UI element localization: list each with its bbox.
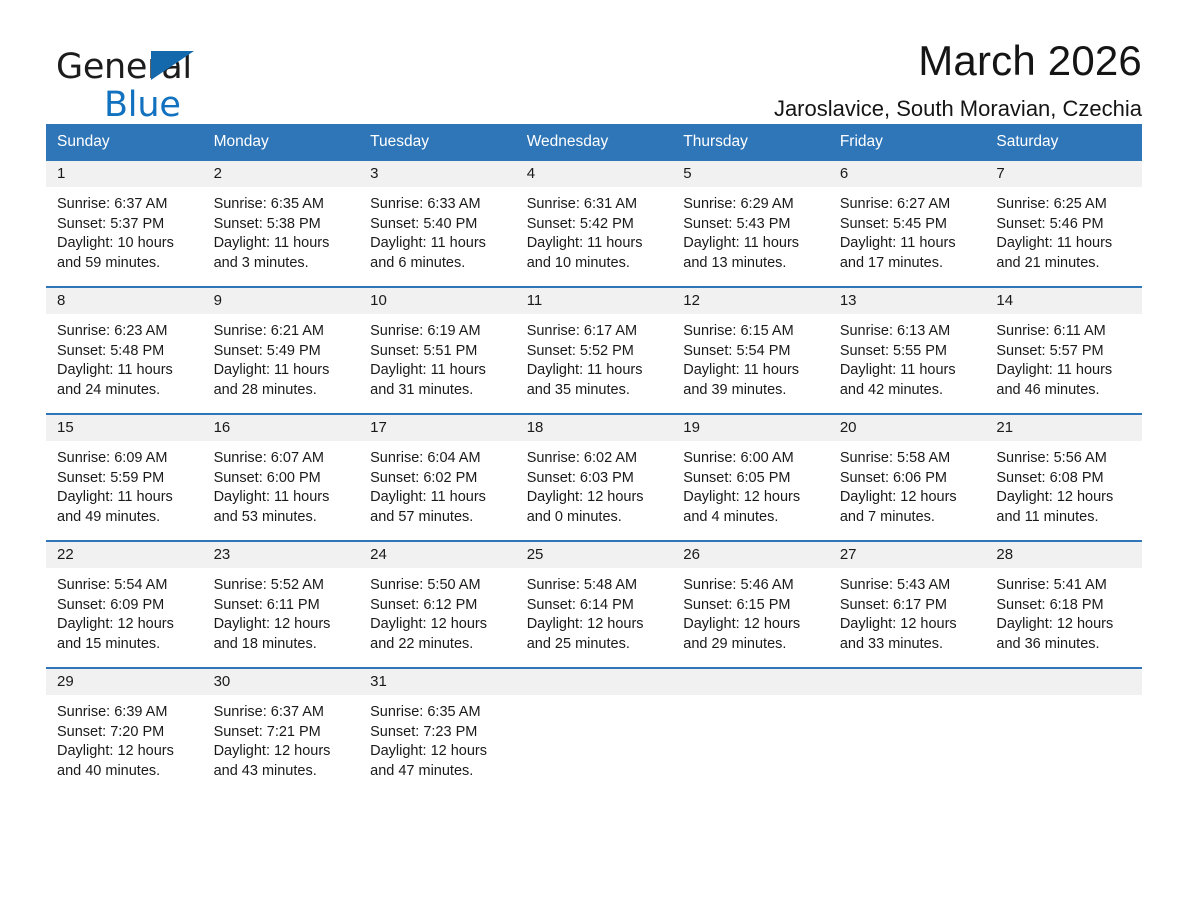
sunrise-text: Sunrise: 5:58 AM: [840, 449, 978, 469]
sunset-text: Sunset: 5:49 PM: [214, 342, 352, 362]
sunset-text: Sunset: 6:00 PM: [214, 469, 352, 489]
daylight-text: Daylight: 12 hours and 36 minutes.: [996, 615, 1134, 654]
sunrise-text: Sunrise: 6:00 AM: [683, 449, 821, 469]
sunset-text: Sunset: 5:57 PM: [996, 342, 1134, 362]
sunrise-text: Sunrise: 5:56 AM: [996, 449, 1134, 469]
day-details: Sunrise: 5:54 AMSunset: 6:09 PMDaylight:…: [46, 568, 203, 654]
calendar-week-row: 29Sunrise: 6:39 AMSunset: 7:20 PMDayligh…: [46, 668, 1142, 794]
day-details: Sunrise: 5:52 AMSunset: 6:11 PMDaylight:…: [203, 568, 360, 654]
day-number: 16: [203, 415, 360, 441]
sunrise-text: Sunrise: 6:19 AM: [370, 322, 508, 342]
day-cell[interactable]: 16Sunrise: 6:07 AMSunset: 6:00 PMDayligh…: [203, 414, 360, 541]
day-number: 8: [46, 288, 203, 314]
daylight-text: Daylight: 11 hours and 39 minutes.: [683, 361, 821, 400]
daylight-text: Daylight: 11 hours and 3 minutes.: [214, 234, 352, 273]
sunrise-text: Sunrise: 6:37 AM: [57, 195, 195, 215]
sunrise-text: Sunrise: 6:33 AM: [370, 195, 508, 215]
day-number: 2: [203, 161, 360, 187]
daylight-text: Daylight: 11 hours and 17 minutes.: [840, 234, 978, 273]
day-number: 9: [203, 288, 360, 314]
sunset-text: Sunset: 5:46 PM: [996, 215, 1134, 235]
sunset-text: Sunset: 6:17 PM: [840, 596, 978, 616]
day-number: [829, 669, 986, 695]
sunrise-text: Sunrise: 6:11 AM: [996, 322, 1134, 342]
daylight-text: Daylight: 11 hours and 21 minutes.: [996, 234, 1134, 273]
sunrise-text: Sunrise: 5:48 AM: [527, 576, 665, 596]
daylight-text: Daylight: 12 hours and 25 minutes.: [527, 615, 665, 654]
day-cell[interactable]: 5Sunrise: 6:29 AMSunset: 5:43 PMDaylight…: [672, 161, 829, 287]
day-number: 13: [829, 288, 986, 314]
sunrise-text: Sunrise: 5:46 AM: [683, 576, 821, 596]
sunrise-text: Sunrise: 5:41 AM: [996, 576, 1134, 596]
day-cell-empty: [516, 668, 673, 794]
day-details: Sunrise: 6:37 AMSunset: 7:21 PMDaylight:…: [203, 695, 360, 781]
daylight-text: Daylight: 11 hours and 24 minutes.: [57, 361, 195, 400]
day-details: Sunrise: 5:41 AMSunset: 6:18 PMDaylight:…: [985, 568, 1142, 654]
weekday-header-monday: Monday: [203, 124, 360, 161]
day-details: Sunrise: 6:09 AMSunset: 5:59 PMDaylight:…: [46, 441, 203, 527]
day-number: 23: [203, 542, 360, 568]
day-number: 22: [46, 542, 203, 568]
daylight-text: Daylight: 11 hours and 53 minutes.: [214, 488, 352, 527]
day-cell[interactable]: 21Sunrise: 5:56 AMSunset: 6:08 PMDayligh…: [985, 414, 1142, 541]
day-cell[interactable]: 3Sunrise: 6:33 AMSunset: 5:40 PMDaylight…: [359, 161, 516, 287]
day-cell[interactable]: 26Sunrise: 5:46 AMSunset: 6:15 PMDayligh…: [672, 541, 829, 668]
day-cell[interactable]: 18Sunrise: 6:02 AMSunset: 6:03 PMDayligh…: [516, 414, 673, 541]
day-cell[interactable]: 31Sunrise: 6:35 AMSunset: 7:23 PMDayligh…: [359, 668, 516, 794]
daylight-text: Daylight: 11 hours and 49 minutes.: [57, 488, 195, 527]
day-cell[interactable]: 25Sunrise: 5:48 AMSunset: 6:14 PMDayligh…: [516, 541, 673, 668]
sunrise-text: Sunrise: 6:04 AM: [370, 449, 508, 469]
weekday-header-tuesday: Tuesday: [359, 124, 516, 161]
day-details: Sunrise: 5:50 AMSunset: 6:12 PMDaylight:…: [359, 568, 516, 654]
day-details: Sunrise: 6:00 AMSunset: 6:05 PMDaylight:…: [672, 441, 829, 527]
day-cell[interactable]: 9Sunrise: 6:21 AMSunset: 5:49 PMDaylight…: [203, 287, 360, 414]
daylight-text: Daylight: 11 hours and 57 minutes.: [370, 488, 508, 527]
day-cell[interactable]: 2Sunrise: 6:35 AMSunset: 5:38 PMDaylight…: [203, 161, 360, 287]
day-cell[interactable]: 6Sunrise: 6:27 AMSunset: 5:45 PMDaylight…: [829, 161, 986, 287]
sunset-text: Sunset: 7:23 PM: [370, 723, 508, 743]
day-cell[interactable]: 15Sunrise: 6:09 AMSunset: 5:59 PMDayligh…: [46, 414, 203, 541]
sunset-text: Sunset: 5:45 PM: [840, 215, 978, 235]
day-details: Sunrise: 6:25 AMSunset: 5:46 PMDaylight:…: [985, 187, 1142, 273]
page-title: March 2026: [46, 40, 1142, 82]
sunset-text: Sunset: 6:14 PM: [527, 596, 665, 616]
sunrise-text: Sunrise: 6:15 AM: [683, 322, 821, 342]
sunrise-text: Sunrise: 6:37 AM: [214, 703, 352, 723]
calendar-page: General Blue March 2026 Jaroslavice, Sou…: [0, 0, 1188, 918]
logo-triangle-icon: [151, 51, 194, 80]
day-number: 20: [829, 415, 986, 441]
sunrise-text: Sunrise: 5:43 AM: [840, 576, 978, 596]
day-cell[interactable]: 12Sunrise: 6:15 AMSunset: 5:54 PMDayligh…: [672, 287, 829, 414]
day-cell-empty: [829, 668, 986, 794]
sunset-text: Sunset: 5:42 PM: [527, 215, 665, 235]
day-details: Sunrise: 5:48 AMSunset: 6:14 PMDaylight:…: [516, 568, 673, 654]
sunrise-text: Sunrise: 6:09 AM: [57, 449, 195, 469]
day-details: Sunrise: 6:02 AMSunset: 6:03 PMDaylight:…: [516, 441, 673, 527]
day-details: Sunrise: 6:19 AMSunset: 5:51 PMDaylight:…: [359, 314, 516, 400]
day-number: 3: [359, 161, 516, 187]
sunrise-text: Sunrise: 5:50 AM: [370, 576, 508, 596]
sunrise-text: Sunrise: 6:31 AM: [527, 195, 665, 215]
daylight-text: Daylight: 11 hours and 46 minutes.: [996, 361, 1134, 400]
sunrise-text: Sunrise: 6:07 AM: [214, 449, 352, 469]
sunrise-text: Sunrise: 6:17 AM: [527, 322, 665, 342]
day-details: Sunrise: 6:35 AMSunset: 5:38 PMDaylight:…: [203, 187, 360, 273]
day-details: [829, 695, 986, 703]
sunset-text: Sunset: 6:15 PM: [683, 596, 821, 616]
sunset-text: Sunset: 5:43 PM: [683, 215, 821, 235]
weekday-header-thursday: Thursday: [672, 124, 829, 161]
sunset-text: Sunset: 6:18 PM: [996, 596, 1134, 616]
sunrise-text: Sunrise: 6:39 AM: [57, 703, 195, 723]
daylight-text: Daylight: 12 hours and 4 minutes.: [683, 488, 821, 527]
daylight-text: Daylight: 12 hours and 18 minutes.: [214, 615, 352, 654]
sunset-text: Sunset: 6:03 PM: [527, 469, 665, 489]
sunrise-text: Sunrise: 5:54 AM: [57, 576, 195, 596]
calendar-week-row: 15Sunrise: 6:09 AMSunset: 5:59 PMDayligh…: [46, 414, 1142, 541]
day-cell-empty: [672, 668, 829, 794]
day-number: 1: [46, 161, 203, 187]
day-cell-empty: [985, 668, 1142, 794]
daylight-text: Daylight: 12 hours and 11 minutes.: [996, 488, 1134, 527]
calendar-week-row: 22Sunrise: 5:54 AMSunset: 6:09 PMDayligh…: [46, 541, 1142, 668]
calendar-week-row: 8Sunrise: 6:23 AMSunset: 5:48 PMDaylight…: [46, 287, 1142, 414]
sunset-text: Sunset: 5:38 PM: [214, 215, 352, 235]
weekday-header-saturday: Saturday: [985, 124, 1142, 161]
sunrise-text: Sunrise: 5:52 AM: [214, 576, 352, 596]
sunset-text: Sunset: 5:37 PM: [57, 215, 195, 235]
sunrise-text: Sunrise: 6:02 AM: [527, 449, 665, 469]
daylight-text: Daylight: 12 hours and 22 minutes.: [370, 615, 508, 654]
sunrise-text: Sunrise: 6:13 AM: [840, 322, 978, 342]
sunset-text: Sunset: 5:54 PM: [683, 342, 821, 362]
sunrise-text: Sunrise: 6:35 AM: [214, 195, 352, 215]
daylight-text: Daylight: 12 hours and 43 minutes.: [214, 742, 352, 781]
calendar-body: 1Sunrise: 6:37 AMSunset: 5:37 PMDaylight…: [46, 161, 1142, 794]
daylight-text: Daylight: 11 hours and 31 minutes.: [370, 361, 508, 400]
daylight-text: Daylight: 12 hours and 29 minutes.: [683, 615, 821, 654]
day-number: 12: [672, 288, 829, 314]
daylight-text: Daylight: 12 hours and 7 minutes.: [840, 488, 978, 527]
day-cell[interactable]: 23Sunrise: 5:52 AMSunset: 6:11 PMDayligh…: [203, 541, 360, 668]
day-number: 5: [672, 161, 829, 187]
daylight-text: Daylight: 11 hours and 13 minutes.: [683, 234, 821, 273]
sunset-text: Sunset: 6:05 PM: [683, 469, 821, 489]
day-details: Sunrise: 6:39 AMSunset: 7:20 PMDaylight:…: [46, 695, 203, 781]
day-number: 14: [985, 288, 1142, 314]
day-number: [985, 669, 1142, 695]
daylight-text: Daylight: 12 hours and 33 minutes.: [840, 615, 978, 654]
day-cell[interactable]: 4Sunrise: 6:31 AMSunset: 5:42 PMDaylight…: [516, 161, 673, 287]
day-details: Sunrise: 6:31 AMSunset: 5:42 PMDaylight:…: [516, 187, 673, 273]
sunset-text: Sunset: 5:55 PM: [840, 342, 978, 362]
sunset-text: Sunset: 6:09 PM: [57, 596, 195, 616]
sunset-text: Sunset: 5:40 PM: [370, 215, 508, 235]
sunset-text: Sunset: 6:11 PM: [214, 596, 352, 616]
day-cell[interactable]: 22Sunrise: 5:54 AMSunset: 6:09 PMDayligh…: [46, 541, 203, 668]
day-cell[interactable]: 30Sunrise: 6:37 AMSunset: 7:21 PMDayligh…: [203, 668, 360, 794]
day-number: [516, 669, 673, 695]
daylight-text: Daylight: 12 hours and 0 minutes.: [527, 488, 665, 527]
day-cell[interactable]: 8Sunrise: 6:23 AMSunset: 5:48 PMDaylight…: [46, 287, 203, 414]
weekday-header-sunday: Sunday: [46, 124, 203, 161]
sunset-text: Sunset: 5:51 PM: [370, 342, 508, 362]
day-number: 15: [46, 415, 203, 441]
day-cell[interactable]: 13Sunrise: 6:13 AMSunset: 5:55 PMDayligh…: [829, 287, 986, 414]
day-cell[interactable]: 1Sunrise: 6:37 AMSunset: 5:37 PMDaylight…: [46, 161, 203, 287]
day-cell[interactable]: 17Sunrise: 6:04 AMSunset: 6:02 PMDayligh…: [359, 414, 516, 541]
day-details: Sunrise: 6:04 AMSunset: 6:02 PMDaylight:…: [359, 441, 516, 527]
sunrise-sunset-calendar: Sunday Monday Tuesday Wednesday Thursday…: [46, 124, 1142, 794]
day-details: Sunrise: 6:13 AMSunset: 5:55 PMDaylight:…: [829, 314, 986, 400]
daylight-text: Daylight: 11 hours and 42 minutes.: [840, 361, 978, 400]
day-details: Sunrise: 6:35 AMSunset: 7:23 PMDaylight:…: [359, 695, 516, 781]
day-details: [672, 695, 829, 703]
sunset-text: Sunset: 6:08 PM: [996, 469, 1134, 489]
day-cell[interactable]: 27Sunrise: 5:43 AMSunset: 6:17 PMDayligh…: [829, 541, 986, 668]
daylight-text: Daylight: 11 hours and 6 minutes.: [370, 234, 508, 273]
day-number: 21: [985, 415, 1142, 441]
day-cell[interactable]: 28Sunrise: 5:41 AMSunset: 6:18 PMDayligh…: [985, 541, 1142, 668]
day-details: [516, 695, 673, 703]
day-details: Sunrise: 5:43 AMSunset: 6:17 PMDaylight:…: [829, 568, 986, 654]
day-cell[interactable]: 29Sunrise: 6:39 AMSunset: 7:20 PMDayligh…: [46, 668, 203, 794]
title-block: March 2026 Jaroslavice, South Moravian, …: [46, 0, 1142, 120]
day-details: Sunrise: 6:15 AMSunset: 5:54 PMDaylight:…: [672, 314, 829, 400]
day-details: Sunrise: 6:11 AMSunset: 5:57 PMDaylight:…: [985, 314, 1142, 400]
general-blue-logo: General Blue: [56, 50, 192, 123]
logo-blue-label: Blue: [104, 88, 192, 123]
sunset-text: Sunset: 6:02 PM: [370, 469, 508, 489]
day-number: 17: [359, 415, 516, 441]
day-number: 24: [359, 542, 516, 568]
day-number: 28: [985, 542, 1142, 568]
day-cell[interactable]: 19Sunrise: 6:00 AMSunset: 6:05 PMDayligh…: [672, 414, 829, 541]
sunset-text: Sunset: 6:06 PM: [840, 469, 978, 489]
day-number: 6: [829, 161, 986, 187]
day-number: 27: [829, 542, 986, 568]
day-number: 25: [516, 542, 673, 568]
calendar-week-row: 1Sunrise: 6:37 AMSunset: 5:37 PMDaylight…: [46, 161, 1142, 287]
sunset-text: Sunset: 6:12 PM: [370, 596, 508, 616]
day-cell[interactable]: 24Sunrise: 5:50 AMSunset: 6:12 PMDayligh…: [359, 541, 516, 668]
day-details: Sunrise: 6:21 AMSunset: 5:49 PMDaylight:…: [203, 314, 360, 400]
day-number: [672, 669, 829, 695]
sunrise-text: Sunrise: 6:35 AM: [370, 703, 508, 723]
day-number: 19: [672, 415, 829, 441]
day-details: Sunrise: 6:17 AMSunset: 5:52 PMDaylight:…: [516, 314, 673, 400]
day-number: 4: [516, 161, 673, 187]
day-number: 11: [516, 288, 673, 314]
day-details: Sunrise: 5:58 AMSunset: 6:06 PMDaylight:…: [829, 441, 986, 527]
sunrise-text: Sunrise: 6:27 AM: [840, 195, 978, 215]
logo-text-general: General: [56, 50, 192, 85]
daylight-text: Daylight: 12 hours and 15 minutes.: [57, 615, 195, 654]
daylight-text: Daylight: 11 hours and 35 minutes.: [527, 361, 665, 400]
daylight-text: Daylight: 12 hours and 40 minutes.: [57, 742, 195, 781]
day-number: 26: [672, 542, 829, 568]
daylight-text: Daylight: 12 hours and 47 minutes.: [370, 742, 508, 781]
day-number: 7: [985, 161, 1142, 187]
sunrise-text: Sunrise: 6:25 AM: [996, 195, 1134, 215]
day-details: Sunrise: 6:37 AMSunset: 5:37 PMDaylight:…: [46, 187, 203, 273]
day-cell[interactable]: 20Sunrise: 5:58 AMSunset: 6:06 PMDayligh…: [829, 414, 986, 541]
weekday-header-friday: Friday: [829, 124, 986, 161]
sunset-text: Sunset: 5:48 PM: [57, 342, 195, 362]
location-subtitle: Jaroslavice, South Moravian, Czechia: [46, 98, 1142, 120]
day-details: Sunrise: 6:07 AMSunset: 6:00 PMDaylight:…: [203, 441, 360, 527]
weekday-header-wednesday: Wednesday: [516, 124, 673, 161]
page-header: General Blue March 2026 Jaroslavice, Sou…: [0, 0, 1188, 110]
daylight-text: Daylight: 11 hours and 10 minutes.: [527, 234, 665, 273]
day-details: Sunrise: 6:27 AMSunset: 5:45 PMDaylight:…: [829, 187, 986, 273]
day-details: Sunrise: 6:29 AMSunset: 5:43 PMDaylight:…: [672, 187, 829, 273]
sunrise-text: Sunrise: 6:29 AM: [683, 195, 821, 215]
day-cell[interactable]: 10Sunrise: 6:19 AMSunset: 5:51 PMDayligh…: [359, 287, 516, 414]
daylight-text: Daylight: 11 hours and 28 minutes.: [214, 361, 352, 400]
day-number: 10: [359, 288, 516, 314]
sunrise-text: Sunrise: 6:23 AM: [57, 322, 195, 342]
day-number: 29: [46, 669, 203, 695]
day-details: Sunrise: 5:46 AMSunset: 6:15 PMDaylight:…: [672, 568, 829, 654]
daylight-text: Daylight: 10 hours and 59 minutes.: [57, 234, 195, 273]
sunset-text: Sunset: 7:20 PM: [57, 723, 195, 743]
sunset-text: Sunset: 5:59 PM: [57, 469, 195, 489]
calendar-header-row: Sunday Monday Tuesday Wednesday Thursday…: [46, 124, 1142, 161]
day-details: [985, 695, 1142, 703]
sunset-text: Sunset: 7:21 PM: [214, 723, 352, 743]
day-cell[interactable]: 7Sunrise: 6:25 AMSunset: 5:46 PMDaylight…: [985, 161, 1142, 287]
day-details: Sunrise: 6:23 AMSunset: 5:48 PMDaylight:…: [46, 314, 203, 400]
day-details: Sunrise: 5:56 AMSunset: 6:08 PMDaylight:…: [985, 441, 1142, 527]
sunrise-text: Sunrise: 6:21 AM: [214, 322, 352, 342]
day-number: 30: [203, 669, 360, 695]
sunset-text: Sunset: 5:52 PM: [527, 342, 665, 362]
day-number: 18: [516, 415, 673, 441]
day-cell[interactable]: 11Sunrise: 6:17 AMSunset: 5:52 PMDayligh…: [516, 287, 673, 414]
day-details: Sunrise: 6:33 AMSunset: 5:40 PMDaylight:…: [359, 187, 516, 273]
day-cell[interactable]: 14Sunrise: 6:11 AMSunset: 5:57 PMDayligh…: [985, 287, 1142, 414]
day-number: 31: [359, 669, 516, 695]
